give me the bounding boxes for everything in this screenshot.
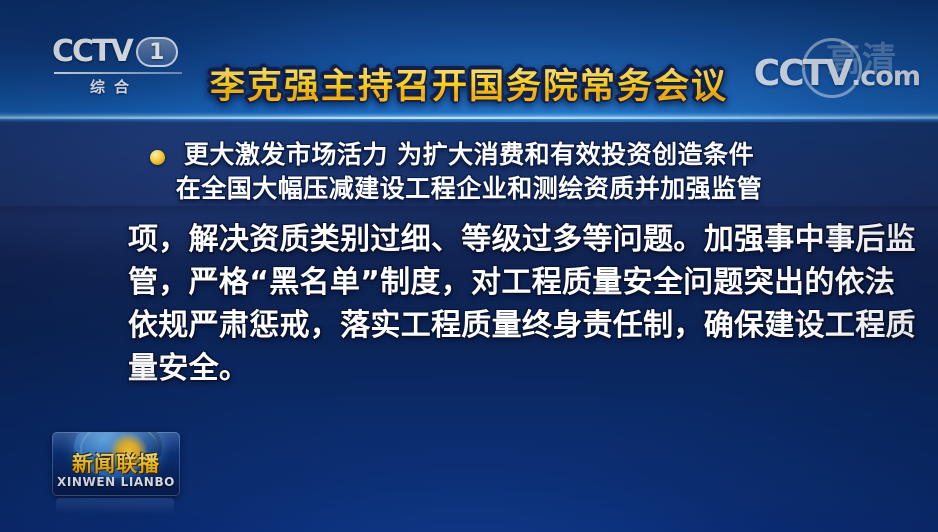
news-headline: 李克强主持召开国务院常务会议	[0, 66, 938, 108]
body-line-2: 管，严格“黑名单”制度，对工程质量安全问题突出的依法	[128, 261, 818, 304]
body-line-3: 依规严肃惩戒，落实工程质量终身责任制，确保建设工程质	[128, 304, 818, 347]
xinwen-lianbo-program-logo: 新闻联播 XINWEN LIANBO	[52, 432, 180, 496]
body-text-block: 项，解决资质类别过细、等级过多等问题。加强事中事后监 管，严格“黑名单”制度，对…	[128, 218, 818, 390]
program-logo-reflection	[56, 498, 174, 514]
body-line-1: 项，解决资质类别过细、等级过多等问题。加强事中事后监	[128, 218, 818, 261]
body-line-4: 量安全。	[128, 347, 818, 390]
program-logo-chinese: 新闻联播	[60, 452, 172, 476]
news-broadcast-frame: CCTV 1 综合 高清 CCTV.com 李克强主持召开国务院常务会议 更大激…	[0, 0, 938, 532]
program-logo-pinyin: XINWEN LIANBO	[56, 475, 176, 489]
banner-divider	[0, 112, 938, 123]
cctv1-logo-row: CCTV 1	[52, 34, 200, 70]
cctv-wordmark: CCTV	[52, 35, 132, 69]
channel-number-badge: 1	[136, 37, 178, 67]
subheadline-line-2: 在全国大幅压减建设工程企业和测绘资质并加强监管	[0, 172, 938, 206]
subheadline-block: 更大激发市场活力 为扩大消费和有效投资创造条件 在全国大幅压减建设工程企业和测绘…	[0, 138, 938, 206]
program-logo-shine	[52, 432, 180, 454]
subheadline-line-1: 更大激发市场活力 为扩大消费和有效投资创造条件	[0, 138, 938, 172]
